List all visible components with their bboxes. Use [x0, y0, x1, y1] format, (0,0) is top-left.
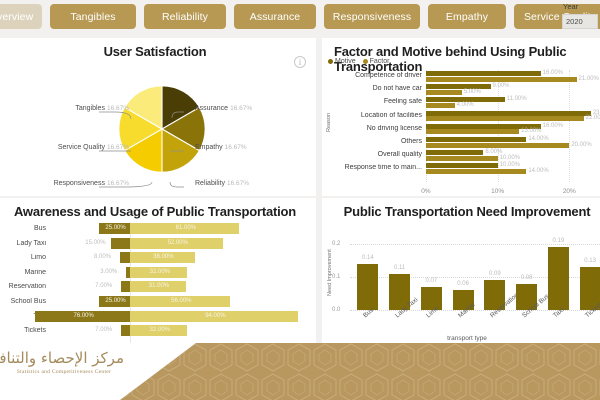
- bar-value-label: 10.00%: [500, 162, 520, 168]
- y-axis-category-label: Feeling safe: [330, 98, 422, 105]
- tornado-category-label: School Bus: [0, 298, 46, 305]
- bar-usage[interactable]: [121, 281, 130, 292]
- bar-value-label: 0.09: [489, 271, 501, 277]
- tornado-category-label: Bus: [0, 225, 46, 232]
- pie-label-tangibles: Tangibles16.67%: [0, 105, 129, 112]
- pie-leader-line: [99, 112, 131, 119]
- page-title-factor-and-motive: Factor and Motive behind Using Public Tr…: [322, 38, 600, 74]
- bar-factor[interactable]: [426, 90, 462, 95]
- tornado-category-label: Tickets: [0, 327, 46, 334]
- bar-need-improvement[interactable]: [421, 287, 442, 310]
- logo-arabic-text: مركز الإحصاء والتنافسية: [4, 349, 124, 368]
- bar-group-row: Do not have car9.00%5.00%: [322, 83, 600, 96]
- pie-label-value: 16.67%: [227, 180, 249, 187]
- bar-value-label: 11.00%: [507, 96, 527, 102]
- bar-value-label: 16.00%: [543, 70, 563, 76]
- panel-awareness-and-usage: Awareness and Usage of Public Transporta…: [0, 198, 316, 343]
- bar-usage[interactable]: [111, 238, 130, 249]
- bar-need-improvement[interactable]: [548, 247, 569, 310]
- x-axis-tick-label: 0%: [421, 188, 430, 195]
- y-axis-category-label: Do not have car: [330, 85, 422, 92]
- bar-value-label-usage: 15.00%: [85, 240, 105, 246]
- bar-value-label-awareness: 32.00%: [150, 327, 170, 333]
- pie-label-responsiveness: Responsiveness16.67%: [0, 180, 129, 187]
- bar-value-label-awareness: 56.00%: [171, 298, 191, 304]
- bar-factor[interactable]: [426, 77, 577, 82]
- pie-label-name: Assurance: [195, 105, 228, 112]
- tornado-row: Tickets7.00%32.00%: [0, 324, 316, 338]
- tornado-row: Marine3.00%32.00%: [0, 266, 316, 280]
- bar-value-label-awareness: 32.00%: [150, 269, 170, 275]
- tornado-row: Limo8.00%36.00%: [0, 251, 316, 265]
- y-axis-category-label: No driving license: [330, 125, 422, 132]
- bar-value-label-usage: 3.00%: [100, 269, 117, 275]
- dashboard-page: OverviewTangiblesReliabilityAssuranceRes…: [0, 0, 600, 400]
- legend-label: Motive: [335, 58, 356, 65]
- tab-overview[interactable]: Overview: [0, 4, 42, 29]
- bar-value-label: 0.13: [584, 258, 596, 264]
- legend-swatch-motive: [328, 59, 333, 64]
- bar-motive[interactable]: [426, 111, 591, 116]
- bar-value-label: 9.00%: [493, 83, 510, 89]
- bar-value-label: 4.00%: [457, 102, 474, 108]
- bar-value-label-usage: 25.00%: [105, 225, 125, 231]
- pie-label-service-quality: Service Quality16.67%: [0, 144, 129, 151]
- tab-tangibles[interactable]: Tangibles: [50, 4, 136, 29]
- bar-value-label-usage: 25.00%: [105, 298, 125, 304]
- bar-value-label: 5.00%: [464, 89, 481, 95]
- legend-factor-and-motive[interactable]: MotiveFactor: [328, 58, 389, 65]
- pie-label-name: Service Quality: [58, 144, 105, 151]
- bar-group-row: Response time to main...10.00%14.00%: [322, 162, 600, 175]
- logo-english-text: Statistics and Competitiveness Center: [4, 369, 124, 375]
- bar-factor[interactable]: [426, 103, 455, 108]
- bar-group-row: No driving license16.00%13.00%: [322, 123, 600, 136]
- bar-chart-factor-and-motive: Reason0%10%20%Competence of driver16.00%…: [322, 70, 600, 196]
- pie-label-value: 16.67%: [107, 105, 129, 112]
- tab-reliability[interactable]: Reliability: [144, 4, 226, 29]
- tornado-row: School Bus25.00%56.00%: [0, 295, 316, 309]
- tornado-category-label: Marine: [0, 269, 46, 276]
- bar-value-label-awareness: 94.00%: [205, 313, 225, 319]
- column-chart-need-improvement: Need Improvement transport type 0.00.10.…: [322, 222, 600, 343]
- year-filter-value[interactable]: 2020: [562, 14, 598, 29]
- pie-label-name: Tangibles: [75, 105, 105, 112]
- pie-label-value: 16.67%: [230, 105, 252, 112]
- tornado-row: Lady Taxi15.00%52.00%: [0, 237, 316, 251]
- bar-value-label: 20.00%: [571, 142, 591, 148]
- tornado-category-label: Lady Taxi: [0, 240, 46, 247]
- tornado-category-label: Limo: [0, 254, 46, 261]
- tab-bar: OverviewTangiblesReliabilityAssuranceRes…: [0, 0, 600, 34]
- bar-motive[interactable]: [426, 163, 498, 168]
- tornado-row: Taxi76.00%94.00%: [0, 310, 316, 324]
- panel-need-improvement: Public Transportation Need Improvement N…: [322, 198, 600, 343]
- pie-leader-lines: [0, 62, 310, 196]
- pie-leader-line: [172, 112, 184, 118]
- year-filter-label: Year: [562, 2, 598, 12]
- bar-value-label-usage: 7.00%: [95, 283, 112, 289]
- legend-item-factor[interactable]: Factor: [363, 58, 390, 65]
- page-title-need-improvement: Public Transportation Need Improvement: [322, 198, 600, 219]
- bar-usage[interactable]: [120, 252, 130, 263]
- bar-value-label: 13.00%: [521, 128, 541, 134]
- pie-label-name: Reliability: [195, 180, 225, 187]
- pie-label-reliability: Reliability16.67%: [195, 180, 249, 187]
- pie-label-value: 16.67%: [107, 144, 129, 151]
- bar-factor[interactable]: [426, 116, 584, 121]
- x-axis-tick-label: 20%: [563, 188, 576, 195]
- bar-value-label: 22.00%: [586, 115, 600, 121]
- pie-label-name: Empathy: [195, 144, 223, 151]
- legend-swatch-factor: [363, 59, 368, 64]
- y-axis-category-label: Competence of driver: [330, 72, 422, 79]
- bar-value-label-usage: 7.00%: [95, 327, 112, 333]
- bar-motive[interactable]: [426, 71, 541, 76]
- panel-factor-and-motive: Factor and Motive behind Using Public Tr…: [322, 38, 600, 196]
- pie-chart-user-satisfaction: Assurance16.67%Empathy16.67%Reliability1…: [0, 62, 310, 196]
- tornado-row: Bus25.00%61.00%: [0, 222, 316, 236]
- tornado-category-label: Reservation: [0, 283, 46, 290]
- bar-group-row: Others14.00%20.00%: [322, 136, 600, 149]
- axis-label-need-improvement-x: transport type: [322, 335, 600, 342]
- bar-value-label-awareness: 61.00%: [176, 225, 196, 231]
- bar-factor[interactable]: [426, 156, 498, 161]
- bar-value-label: 0.07: [426, 278, 438, 284]
- bar-group-row: Competence of driver16.00%21.00%: [322, 70, 600, 83]
- pie-label-name: Responsiveness: [54, 180, 105, 187]
- tornado-chart-awareness-and-usage: Bus25.00%61.00%Lady Taxi15.00%52.00%Limo…: [0, 222, 316, 343]
- bar-motive[interactable]: [426, 137, 526, 142]
- bar-value-label: 16.00%: [543, 123, 563, 129]
- y-axis-category-label: Overall quality: [330, 151, 422, 158]
- y-axis-category-label: Others: [330, 138, 422, 145]
- legend-item-motive[interactable]: Motive: [328, 58, 356, 65]
- year-filter[interactable]: Year 2020: [562, 2, 598, 29]
- bar-value-label-awareness: 52.00%: [168, 240, 188, 246]
- bar-value-label: 0.08: [521, 275, 533, 281]
- bar-value-label: 21.00%: [579, 76, 599, 82]
- bar-usage[interactable]: [121, 325, 130, 336]
- bar-factor[interactable]: [426, 143, 569, 148]
- tornado-row: Reservation7.00%31.00%: [0, 280, 316, 294]
- bar-motive[interactable]: [426, 150, 483, 155]
- bar-need-improvement[interactable]: [357, 264, 378, 310]
- legend-label: Factor: [370, 58, 390, 65]
- page-title-user-satisfaction: User Satisfaction: [0, 38, 316, 59]
- tab-responsiveness[interactable]: Responsiveness: [324, 4, 420, 29]
- bar-value-label: 0.19: [553, 238, 565, 244]
- organization-logo: مركز الإحصاء والتنافسية Statistics and C…: [4, 349, 124, 375]
- pie-label-value: 16.67%: [225, 144, 247, 151]
- tab-empathy[interactable]: Empathy: [428, 4, 506, 29]
- bar-value-label: 14.00%: [528, 136, 548, 142]
- axis-label-need-improvement-y: Need Improvement: [327, 249, 333, 296]
- pie-label-empathy: Empathy16.67%: [195, 144, 247, 151]
- y-axis-tick-label: 0.2: [332, 241, 340, 247]
- bar-value-label: 14.00%: [528, 168, 548, 174]
- bar-value-label-usage: 8.00%: [94, 254, 111, 260]
- tab-assurance[interactable]: Assurance: [234, 4, 316, 29]
- y-axis-tick-label: 0.0: [332, 307, 340, 313]
- bar-value-label-awareness: 31.00%: [149, 283, 169, 289]
- x-axis-tick-label: 10%: [491, 188, 504, 195]
- y-axis-tick-label: 0.1: [332, 274, 340, 280]
- bar-factor[interactable]: [426, 129, 519, 134]
- bar-value-label: 0.06: [457, 281, 469, 287]
- bar-value-label: 0.14: [362, 255, 374, 261]
- pie-leader-line: [170, 182, 184, 187]
- bar-group-row: Location of facilities23.00%22.00%: [322, 110, 600, 123]
- footer: مركز الإحصاء والتنافسية Statistics and C…: [0, 343, 600, 400]
- bar-value-label: 0.11: [394, 265, 405, 271]
- pie-label-assurance: Assurance16.67%: [195, 105, 252, 112]
- panel-user-satisfaction: User Satisfaction i Assurance16.67%Empat…: [0, 38, 316, 196]
- bar-value-label-usage: 76.00%: [74, 313, 94, 319]
- bar-value-label: 10.00%: [500, 155, 520, 161]
- bar-group-row: Feeling safe11.00%4.00%: [322, 96, 600, 109]
- y-axis-category-label: Response time to main...: [330, 164, 422, 171]
- bar-value-label-awareness: 36.00%: [153, 254, 173, 260]
- y-axis-category-label: Location of facilities: [330, 112, 422, 119]
- bar-factor[interactable]: [426, 169, 526, 174]
- page-title-awareness-and-usage: Awareness and Usage of Public Transporta…: [0, 198, 316, 219]
- bar-group-row: Overall quality8.00%10.00%: [322, 149, 600, 162]
- pie-label-value: 16.67%: [107, 180, 129, 187]
